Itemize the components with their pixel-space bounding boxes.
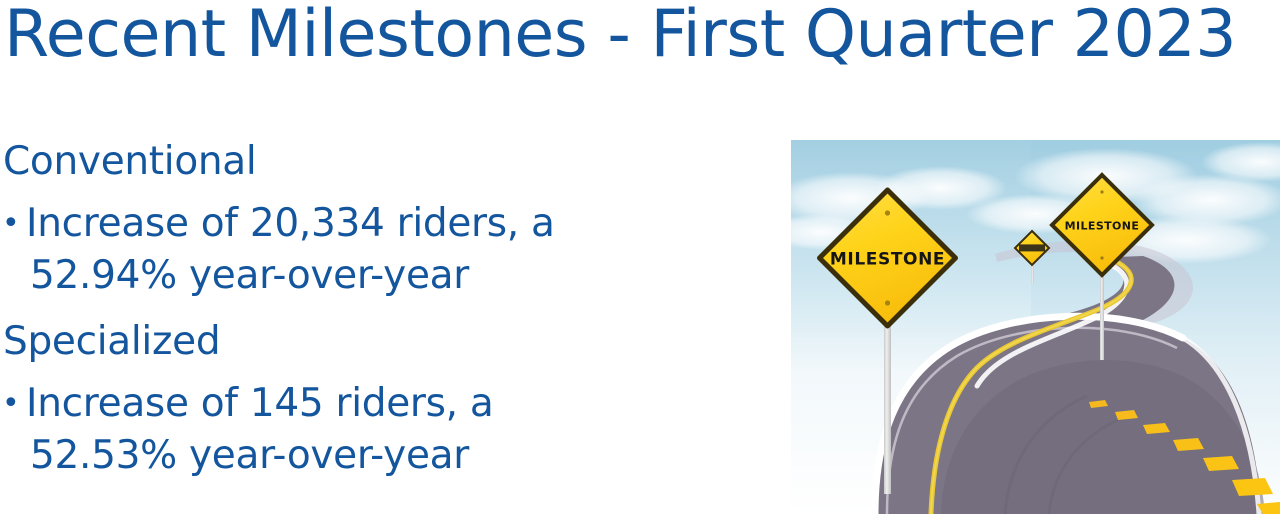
bullet-icon: •: [0, 378, 26, 430]
list-item: • Increase of 20,334 riders, a 52.94% ye…: [0, 198, 700, 302]
bullet-line-2: 52.94% year-over-year: [26, 250, 700, 302]
bullet-text: Increase of 20,334 riders, a 52.94% year…: [26, 198, 700, 302]
sign-label-small: [1019, 244, 1045, 251]
sign-label-large: MILESTONE: [830, 250, 945, 270]
page-title: Recent Milestones - First Quarter 2023: [4, 0, 1280, 74]
road-illustration-svg: MILESTONE MILESTONE: [791, 140, 1280, 514]
group-heading-specialized: Specialized: [0, 316, 700, 368]
bullet-icon: •: [0, 198, 26, 250]
bullet-line-2: 52.53% year-over-year: [26, 430, 700, 482]
list-item: • Increase of 145 riders, a 52.53% year-…: [0, 378, 700, 482]
milestone-road-image: MILESTONE MILESTONE: [791, 140, 1280, 514]
bullet-text: Increase of 145 riders, a 52.53% year-ov…: [26, 378, 700, 482]
bullet-line-1: Increase of 20,334 riders, a: [26, 201, 555, 246]
content-body: Conventional • Increase of 20,334 riders…: [0, 136, 700, 482]
group-heading-conventional: Conventional: [0, 136, 700, 188]
spacer: [0, 368, 700, 378]
spacer: [0, 188, 700, 198]
sign-label-medium: MILESTONE: [1065, 220, 1140, 233]
sign-post-large: [884, 320, 891, 494]
bullet-line-1: Increase of 145 riders, a: [26, 381, 493, 426]
spacer: [0, 302, 700, 316]
slide-canvas: Recent Milestones - First Quarter 2023 C…: [0, 0, 1280, 514]
